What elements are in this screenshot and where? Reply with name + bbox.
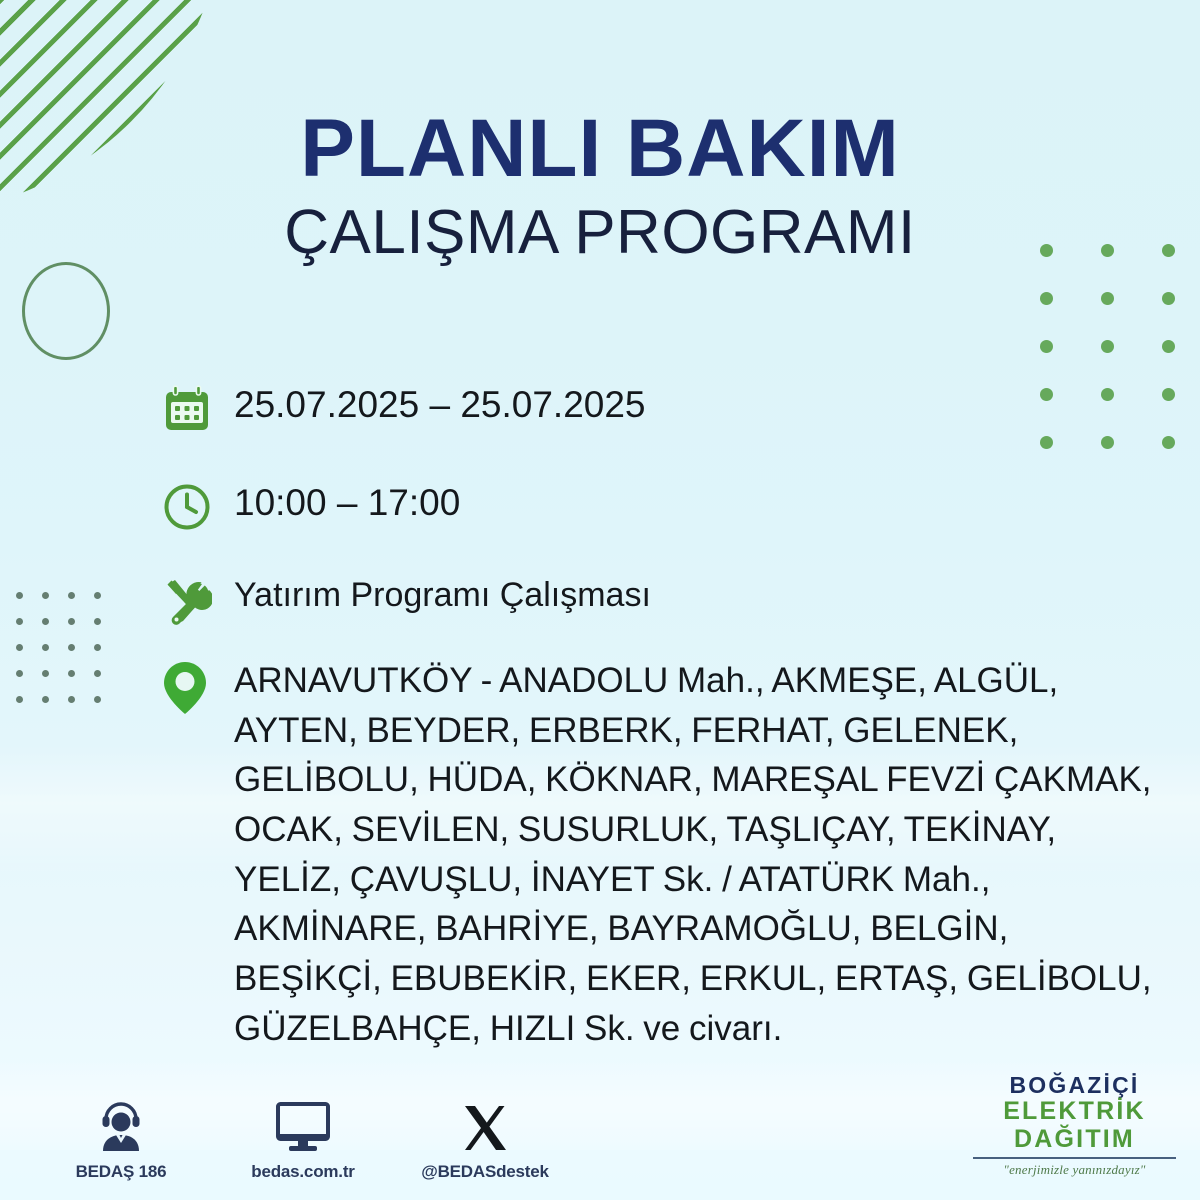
page-subtitle: ÇALIŞMA PROGRAMI bbox=[0, 198, 1200, 267]
poster-header: PLANLI BAKIM ÇALIŞMA PROGRAMI bbox=[0, 108, 1200, 267]
footer-label-website: bedas.com.tr bbox=[251, 1162, 354, 1182]
date-range-text: 25.07.2025 – 25.07.2025 bbox=[234, 380, 646, 428]
location-text: ARNAVUTKÖY - ANADOLU Mah., AKMEŞE, ALGÜL… bbox=[234, 656, 1162, 1054]
call-center-agent-icon bbox=[94, 1097, 148, 1153]
detail-row-time: 10:00 – 17:00 bbox=[162, 478, 1162, 532]
footer-item-website[interactable]: bedas.com.tr bbox=[238, 1097, 368, 1182]
monitor-icon bbox=[275, 1097, 331, 1153]
detail-row-work-type: Yatırım Programı Çalışması bbox=[162, 572, 1162, 626]
clock-icon bbox=[162, 478, 234, 532]
page-title: PLANLI BAKIM bbox=[0, 108, 1200, 190]
footer-item-x[interactable]: @BEDASdestek bbox=[420, 1097, 550, 1182]
time-range-text: 10:00 – 17:00 bbox=[234, 478, 460, 526]
brand-line-elektrik: ELEKTRİK bbox=[967, 1098, 1182, 1126]
footer-item-phone[interactable]: BEDAŞ 186 bbox=[56, 1097, 186, 1182]
maintenance-details: 25.07.2025 – 25.07.2025 10:00 – 17:00 bbox=[162, 380, 1162, 1054]
detail-row-date: 25.07.2025 – 25.07.2025 bbox=[162, 380, 1162, 434]
brand-line-bogazici: BOĞAZİÇİ bbox=[967, 1073, 1182, 1098]
planned-maintenance-poster: PLANLI BAKIM ÇALIŞMA PROGRAMI bbox=[0, 0, 1200, 1200]
calendar-icon bbox=[162, 380, 234, 434]
footer-contact-strip: BEDAŞ 186 bedas.com.tr @BEDASdestek bbox=[56, 1097, 550, 1182]
detail-row-location: ARNAVUTKÖY - ANADOLU Mah., AKMEŞE, ALGÜL… bbox=[162, 656, 1162, 1054]
tools-icon bbox=[162, 572, 234, 626]
brand-tagline: "enerjimizle yanınızdayız" bbox=[967, 1162, 1182, 1178]
work-type-text: Yatırım Programı Çalışması bbox=[234, 572, 651, 617]
footer-label-x: @BEDASdestek bbox=[421, 1162, 549, 1182]
footer-label-phone: BEDAŞ 186 bbox=[76, 1162, 167, 1182]
brand-divider bbox=[973, 1157, 1176, 1159]
map-pin-icon bbox=[162, 656, 234, 716]
dot-grid-left-decoration bbox=[16, 592, 120, 722]
brand-line-dagitim: DAĞITIM bbox=[967, 1126, 1182, 1154]
x-twitter-icon bbox=[460, 1097, 510, 1153]
brand-logo: BOĞAZİÇİ ELEKTRİK DAĞITIM "enerjimizle y… bbox=[967, 1073, 1182, 1178]
circle-outline-decoration bbox=[22, 262, 110, 360]
